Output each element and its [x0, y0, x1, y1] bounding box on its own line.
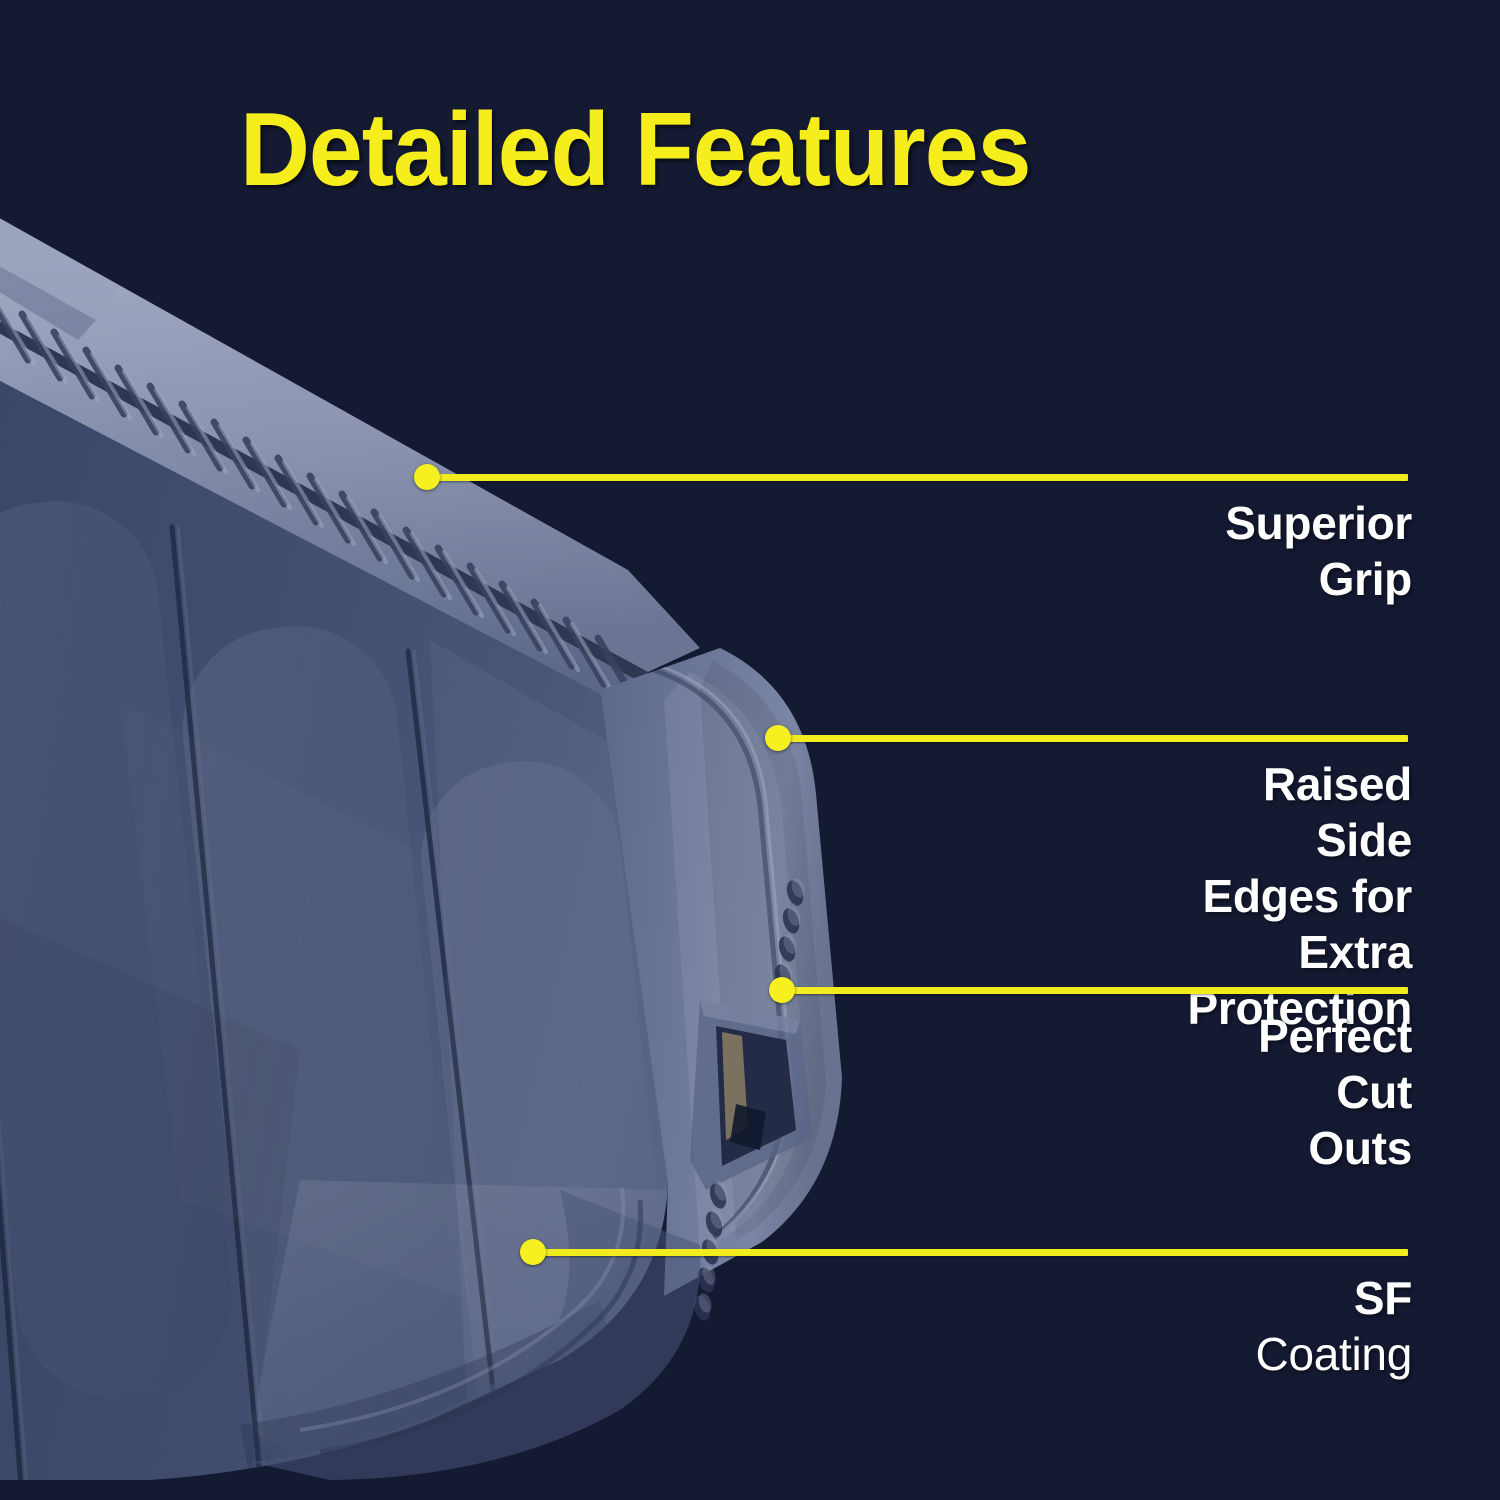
callout-label-sf-coating: SF Coating [1256, 1270, 1412, 1382]
leader-dot-sf-coating [520, 1239, 546, 1265]
leader-line-sf-coating [533, 1249, 1408, 1256]
leader-line-superior-grip [427, 474, 1408, 481]
callout-label-raised-side-edges: Raised Side Edges for Extra Protection [1188, 756, 1412, 1037]
leader-line-raised-side-edges [778, 735, 1408, 742]
page-title: Detailed Features [240, 98, 1031, 202]
leader-dot-raised-side-edges [765, 725, 791, 751]
leader-dot-perfect-cut-outs [769, 977, 795, 1003]
callout-label-perfect-cut-outs: Perfect Cut Outs [1258, 1008, 1412, 1176]
callout-label-superior-grip: Superior Grip [1225, 495, 1412, 607]
sf-coating-bold: SF [1354, 1272, 1412, 1324]
feature-graphic: Detailed Features Superior Grip Raised S… [0, 0, 1500, 1500]
leader-line-perfect-cut-outs [782, 987, 1408, 994]
leader-dot-superior-grip [414, 464, 440, 490]
sf-coating-thin: Coating [1256, 1328, 1412, 1380]
